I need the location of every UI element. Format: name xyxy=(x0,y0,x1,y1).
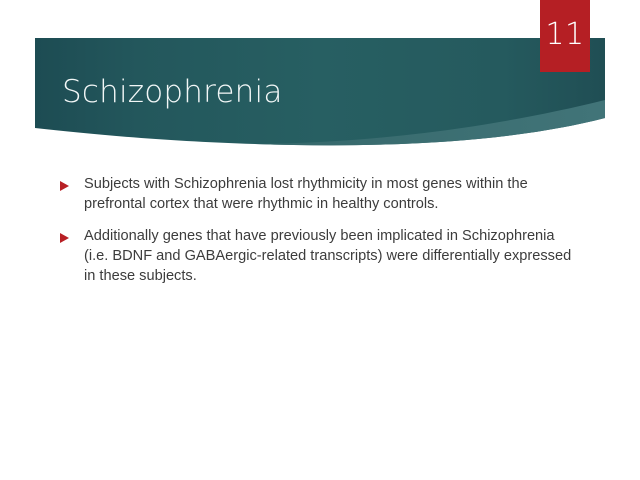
slide-canvas: 11 Schizophrenia Subjects with Schizophr… xyxy=(0,0,640,480)
slide-number-badge: 11 xyxy=(540,0,590,72)
bullet-text: Additionally genes that have previously … xyxy=(84,226,578,286)
list-item: Additionally genes that have previously … xyxy=(60,226,578,286)
list-item: Subjects with Schizophrenia lost rhythmi… xyxy=(60,174,578,214)
banner-accent-wedge xyxy=(255,100,605,145)
bullet-text: Subjects with Schizophrenia lost rhythmi… xyxy=(84,174,578,214)
triangle-bullet-icon xyxy=(60,174,84,191)
triangle-bullet-icon xyxy=(60,226,84,243)
body-content: Subjects with Schizophrenia lost rhythmi… xyxy=(60,174,578,298)
slide-title: Schizophrenia xyxy=(62,72,283,112)
slide-number-text: 11 xyxy=(545,20,584,50)
